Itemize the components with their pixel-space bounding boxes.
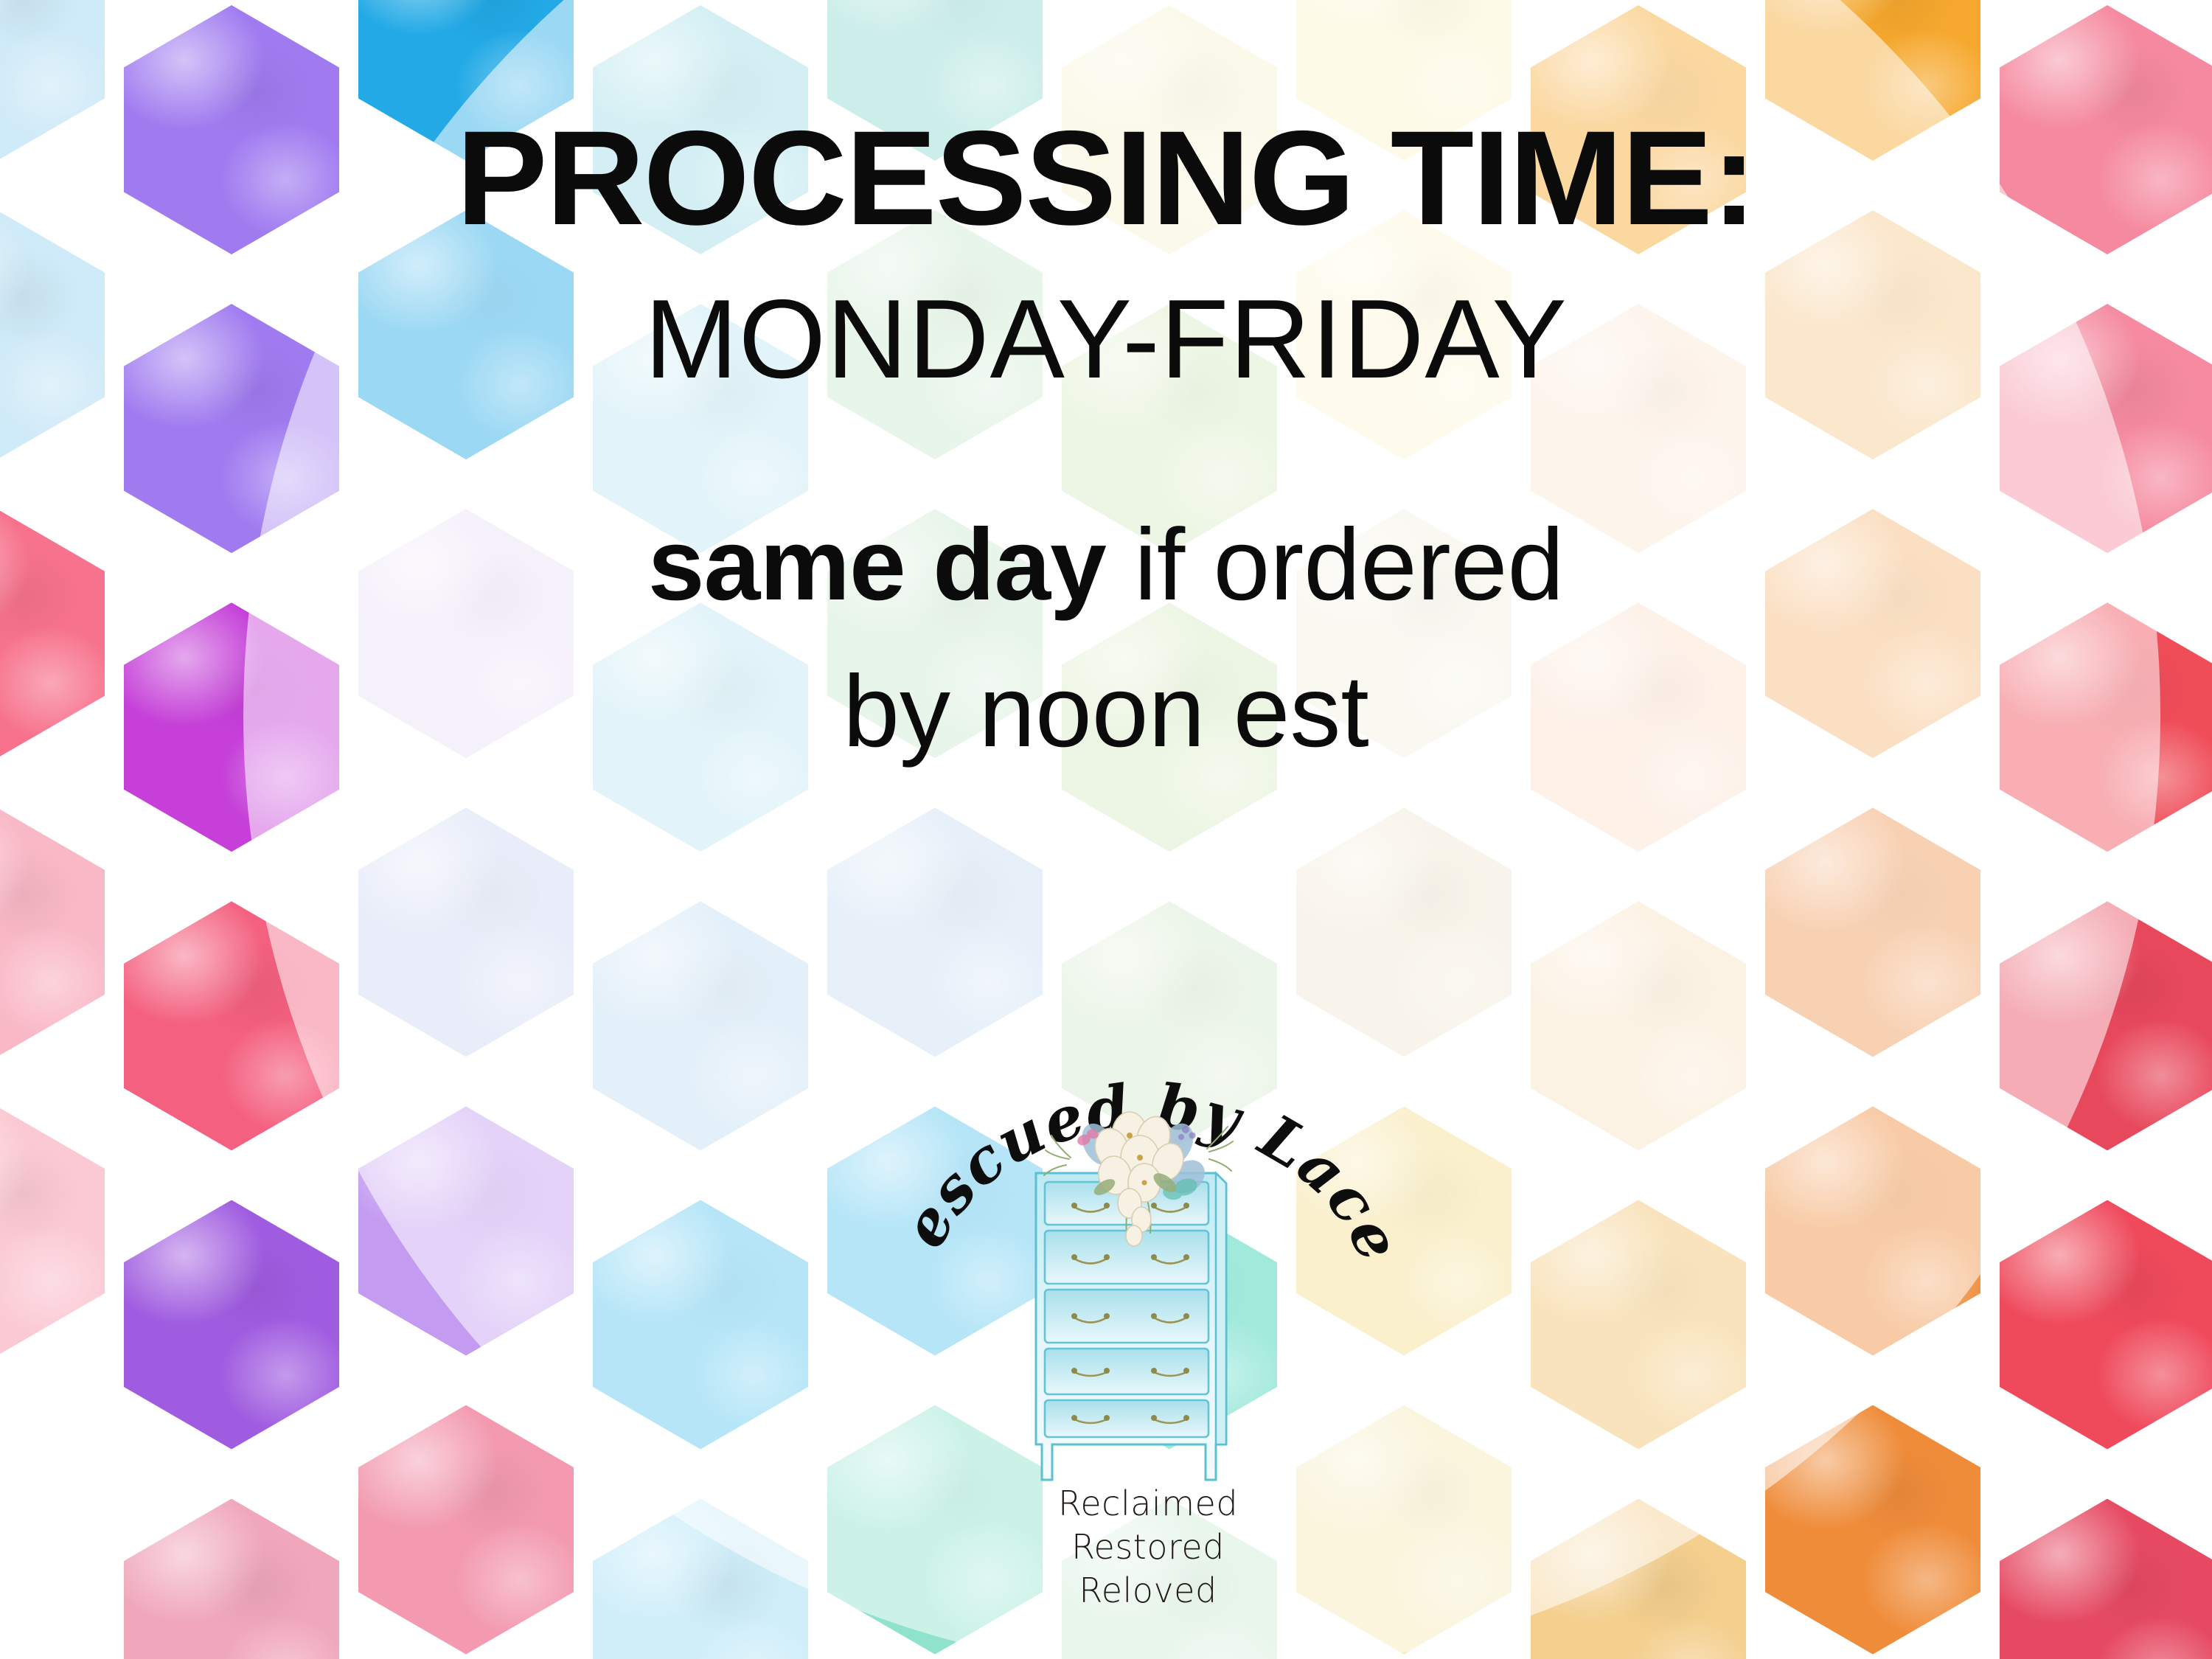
tagline-line-1: Reclaimed (912, 1482, 1384, 1526)
if-ordered-text: if ordered (1106, 508, 1564, 622)
tagline-line-2: Restored (912, 1526, 1384, 1569)
body-line-2: by noon est (843, 660, 1369, 764)
body-line-1: same day if ordered (648, 513, 1564, 617)
same-day-emphasis: same day (648, 508, 1106, 622)
brand-logo: Rescued by Lacey (912, 1029, 1384, 1611)
flower-bouquet-icon (1041, 1106, 1237, 1268)
page-title: PROCESSING TIME: (456, 111, 1756, 245)
brand-tagline: Reclaimed Restored Reloved (912, 1482, 1384, 1613)
tagline-line-3: Reloved (912, 1569, 1384, 1613)
poster-canvas: PROCESSING TIME: MONDAY-FRIDAY same day … (0, 0, 2212, 1659)
subtitle: MONDAY-FRIDAY (644, 283, 1568, 395)
